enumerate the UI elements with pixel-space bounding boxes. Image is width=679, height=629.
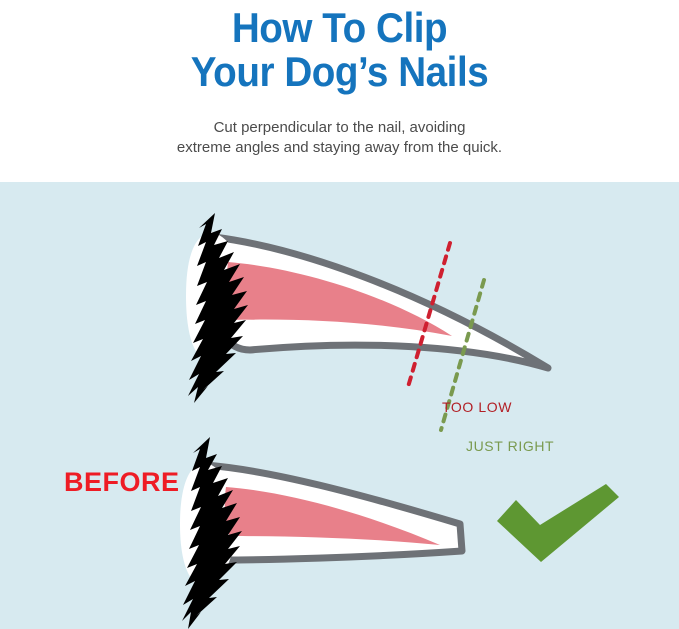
subtitle-line-1: Cut perpendicular to the nail, avoiding	[0, 118, 679, 138]
page-title-line-2: Your Dog’s Nails	[27, 49, 652, 95]
stage-label-before: BEFORE	[64, 467, 180, 498]
header-section: How To Clip Your Dog’s Nails Cut perpend…	[0, 0, 679, 182]
after-nail-illustration	[180, 437, 462, 629]
infographic-page: How To Clip Your Dog’s Nails Cut perpend…	[0, 0, 679, 629]
subtitle-line-2: extreme angles and staying away from the…	[0, 138, 679, 158]
nail-diagram-svg	[0, 182, 679, 629]
check-icon	[497, 484, 619, 562]
cut-label-just-right: JUST RIGHT	[466, 438, 554, 454]
page-title-line-1: How To Clip	[27, 5, 652, 51]
illustration-panel: BEFORE AFTER TOO LOW JUST RIGHT	[0, 182, 679, 629]
before-nail-illustration	[186, 213, 548, 403]
cut-label-too-low: TOO LOW	[442, 399, 512, 415]
